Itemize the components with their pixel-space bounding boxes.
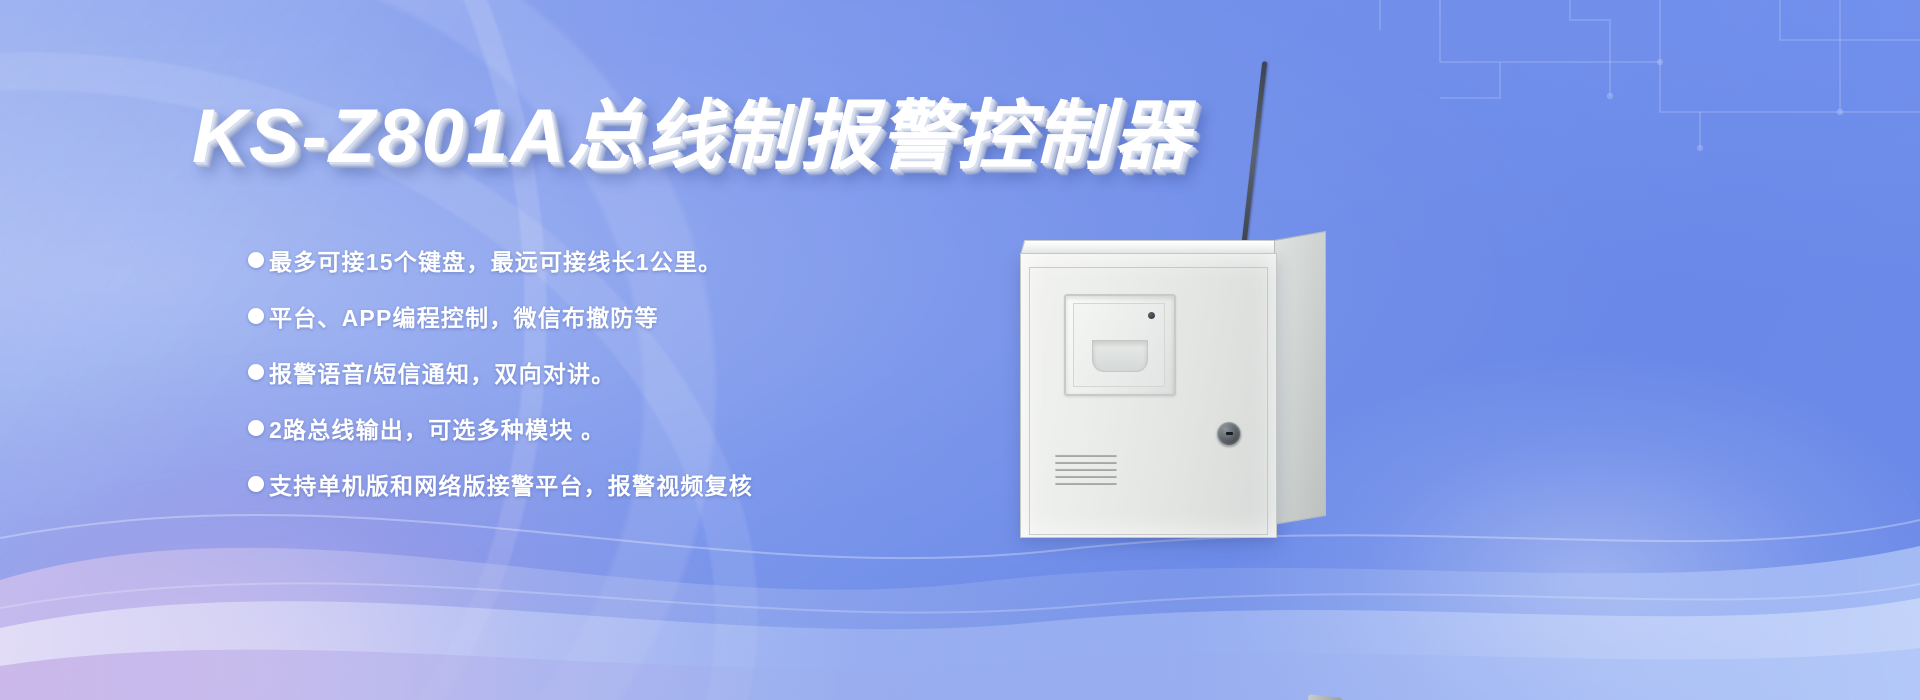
list-item: 2路总线输出，可选多种模块 。	[248, 406, 1068, 449]
vent-line	[1055, 482, 1117, 485]
feature-text: 平台、APP编程控制，微信布撤防等	[269, 299, 659, 333]
feature-text: 支持单机版和网络版接警平台，报警视频复核	[269, 467, 753, 501]
list-item: 平台、APP编程控制，微信布撤防等	[248, 294, 1068, 337]
vent-line	[1055, 461, 1117, 464]
feature-text: 2路总线输出，可选多种模块 。	[269, 411, 605, 445]
bullet-dot-icon	[248, 364, 264, 380]
vent-line	[1055, 454, 1117, 457]
bullet-dot-icon	[248, 420, 264, 436]
vent-line	[1055, 468, 1117, 471]
vent-line	[1055, 475, 1117, 478]
list-item: 支持单机版和网络版接警平台，报警视频复核	[248, 462, 1068, 505]
keypad-handle-slot	[1092, 340, 1148, 372]
feature-text: 报警语音/短信通知，双向对讲。	[269, 355, 615, 389]
product-image	[1000, 50, 1420, 570]
feature-text: 最多可接15个键盘，最远可接线长1公里。	[269, 243, 722, 277]
cabinet-side-face	[1274, 231, 1326, 525]
status-led-icon	[1148, 312, 1155, 319]
cable-stub	[1308, 694, 1343, 700]
bullet-dot-icon	[248, 476, 264, 492]
bullet-dot-icon	[248, 252, 264, 268]
alarm-cabinet	[1020, 248, 1310, 538]
cabinet-lock-icon	[1217, 422, 1241, 446]
list-item: 最多可接15个键盘，最远可接线长1公里。	[248, 238, 1068, 281]
keypad-inner-panel	[1073, 303, 1165, 387]
ventilation-slots	[1055, 454, 1117, 494]
lock-keyhole	[1226, 432, 1233, 435]
cabinet-front-face	[1020, 253, 1277, 538]
bullet-dot-icon	[248, 308, 264, 324]
list-item: 报警语音/短信通知，双向对讲。	[248, 350, 1068, 393]
keypad-recess	[1064, 294, 1176, 396]
product-banner: KS-Z801A总线制报警控制器 最多可接15个键盘，最远可接线长1公里。 平台…	[0, 0, 1920, 700]
feature-list: 最多可接15个键盘，最远可接线长1公里。 平台、APP编程控制，微信布撤防等 报…	[248, 238, 1068, 518]
